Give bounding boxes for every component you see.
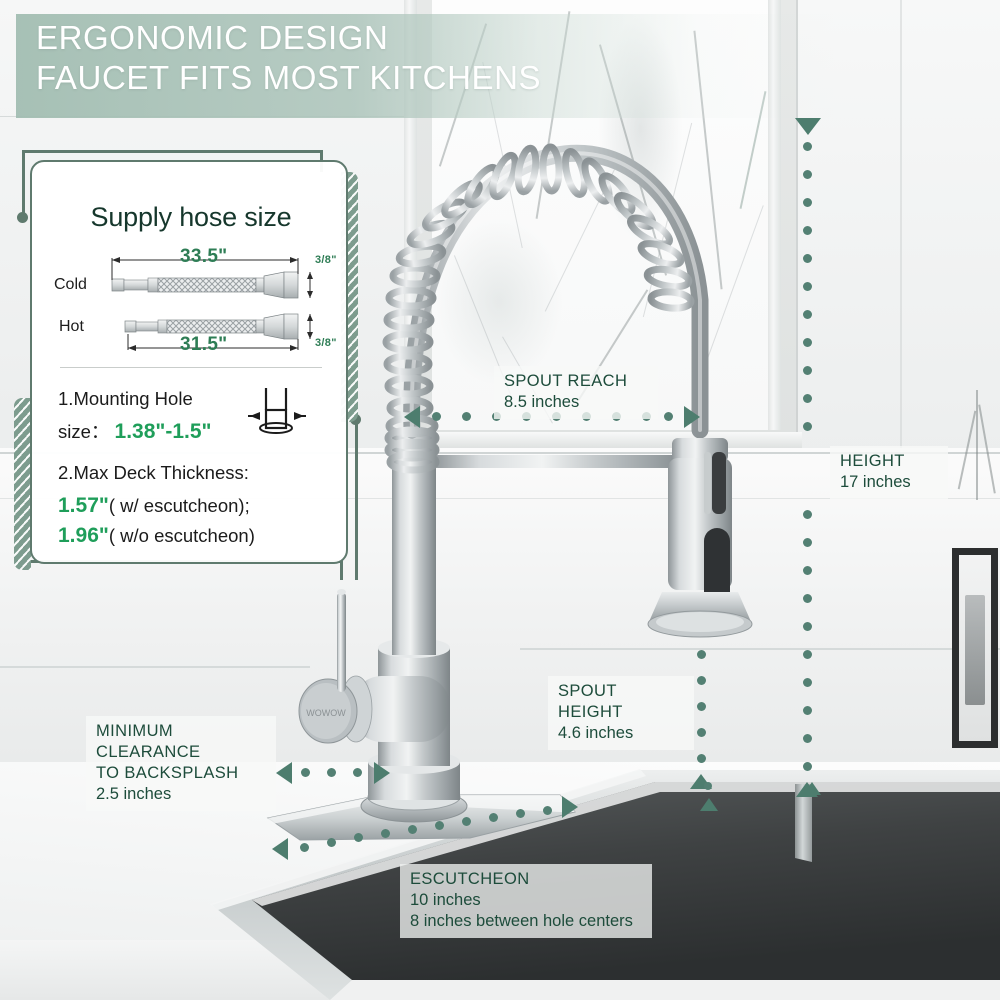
callout-height-title: HEIGHT xyxy=(840,451,938,472)
callout-height: HEIGHT 17 inches xyxy=(830,446,948,499)
escutcheon-arrow-left xyxy=(272,838,288,860)
spec-deck-thickness-title: 2.Max Deck Thickness: xyxy=(58,462,249,484)
supply-hose-diagram: Cold Hot 33.5" 31.5" 3/8" 3/8" xyxy=(32,242,350,357)
callout-height-value: 17 inches xyxy=(840,472,938,493)
hot-hose-end-fitting xyxy=(125,321,136,332)
callout-min-clearance-title2: TO BACKSPLASH xyxy=(96,763,266,784)
spec-value-2a: 1.57" xyxy=(58,494,109,517)
card-hatch-left xyxy=(14,398,31,570)
hole-center-dot-1 xyxy=(704,782,712,790)
faucet-handle-lever xyxy=(337,592,346,692)
callout-spout-reach: SPOUT REACH 8.5 inches xyxy=(494,366,658,419)
spec-value-2b: 1.96" xyxy=(58,524,109,547)
min-clearance-arrow-right xyxy=(374,762,390,784)
specification-card: Supply hose size xyxy=(30,160,348,564)
spout-reach-arrow-left xyxy=(404,406,420,428)
faucet-neck xyxy=(392,430,436,655)
card-connector-top xyxy=(22,150,322,153)
hot-hose-braid xyxy=(167,320,256,333)
mounting-hole-icon xyxy=(246,384,308,438)
spec-note-2a: ( w/ escutcheon); xyxy=(109,495,250,516)
callout-min-clearance-title1: MINIMUM CLEARANCE xyxy=(96,721,266,763)
hole-center-marker-1 xyxy=(700,798,718,811)
callout-spout-height-title: SPOUT HEIGHT xyxy=(558,681,684,723)
faucet-brand-mark: WOWOW xyxy=(306,708,346,718)
callout-spout-reach-value: 8.5 inches xyxy=(504,392,648,413)
callout-escutcheon: ESCUTCHEON 10 inches 8 inches between ho… xyxy=(400,864,652,938)
spout-reach-arrow-right xyxy=(684,406,700,428)
callout-min-clearance-value: 2.5 inches xyxy=(96,784,266,805)
faucet-arm xyxy=(432,455,694,468)
spec-deck-thickness-a: 1.57"( w/ escutcheon); xyxy=(58,494,250,518)
callout-min-clearance: MINIMUM CLEARANCE TO BACKSPLASH 2.5 inch… xyxy=(86,716,276,811)
cold-hose-end-fitting xyxy=(112,279,124,291)
card-connector-right-bottom xyxy=(340,560,343,580)
spec-mounting-hole-line2: size： 1.38"-1.5" xyxy=(58,418,212,444)
spec-index-2: 2. xyxy=(58,462,73,483)
height-arrow-top xyxy=(795,118,821,135)
faucet-lever-cap xyxy=(337,589,346,595)
hole-center-marker-2 xyxy=(803,782,821,795)
callout-escutcheon-value-2: 8 inches between hole centers xyxy=(410,911,642,932)
card-divider xyxy=(60,367,322,368)
card-connector-right-down xyxy=(355,420,358,580)
callout-spout-reach-title: SPOUT REACH xyxy=(504,371,648,392)
callout-spout-height: SPOUT HEIGHT 4.6 inches xyxy=(548,676,694,750)
cold-hose-braid xyxy=(158,278,256,292)
cold-hose-length: 33.5" xyxy=(180,246,228,268)
callout-spout-height-value: 4.6 inches xyxy=(558,723,684,744)
spec-name-2: Max Deck Thickness: xyxy=(73,462,248,483)
hot-hose-label: Hot xyxy=(59,318,84,336)
hot-hose-nut xyxy=(264,314,284,339)
cold-hose-nut xyxy=(264,272,284,298)
cold-hose-label: Cold xyxy=(54,276,87,294)
callout-escutcheon-title: ESCUTCHEON xyxy=(410,869,642,890)
spec-index-1: 1. xyxy=(58,388,73,409)
hot-hose-length: 31.5" xyxy=(180,334,228,356)
sprayhead-top-trim xyxy=(704,452,711,514)
spec-deck-thickness-b: 1.96"( w/o escutcheon) xyxy=(58,524,255,548)
card-connector-left-top xyxy=(22,150,25,218)
sprayhead-top-stripe xyxy=(712,452,726,514)
hot-hose-fitting: 3/8" xyxy=(315,337,337,349)
spec-sublabel-1: size： xyxy=(58,421,109,442)
spec-card-title: Supply hose size xyxy=(32,202,350,233)
spec-value-1: 1.38"-1.5" xyxy=(115,420,212,443)
sprayhead-nozzle-face xyxy=(656,612,744,632)
spec-mounting-hole-line1: 1.Mounting Hole xyxy=(58,388,193,410)
product-infographic: WOWOW xyxy=(0,0,1000,1000)
escutcheon-arrow-right xyxy=(562,796,578,818)
card-connector-dot-left xyxy=(17,212,28,223)
page-title: ERGONOMIC DESIGN FAUCET FITS MOST KITCHE… xyxy=(36,18,756,98)
spec-note-2b: ( w/o escutcheon) xyxy=(109,525,255,546)
spec-name-1: Mounting Hole xyxy=(73,388,192,409)
cold-hose-fitting: 3/8" xyxy=(315,254,337,266)
min-clearance-arrow-left xyxy=(276,762,292,784)
callout-escutcheon-value-1: 10 inches xyxy=(410,890,642,911)
